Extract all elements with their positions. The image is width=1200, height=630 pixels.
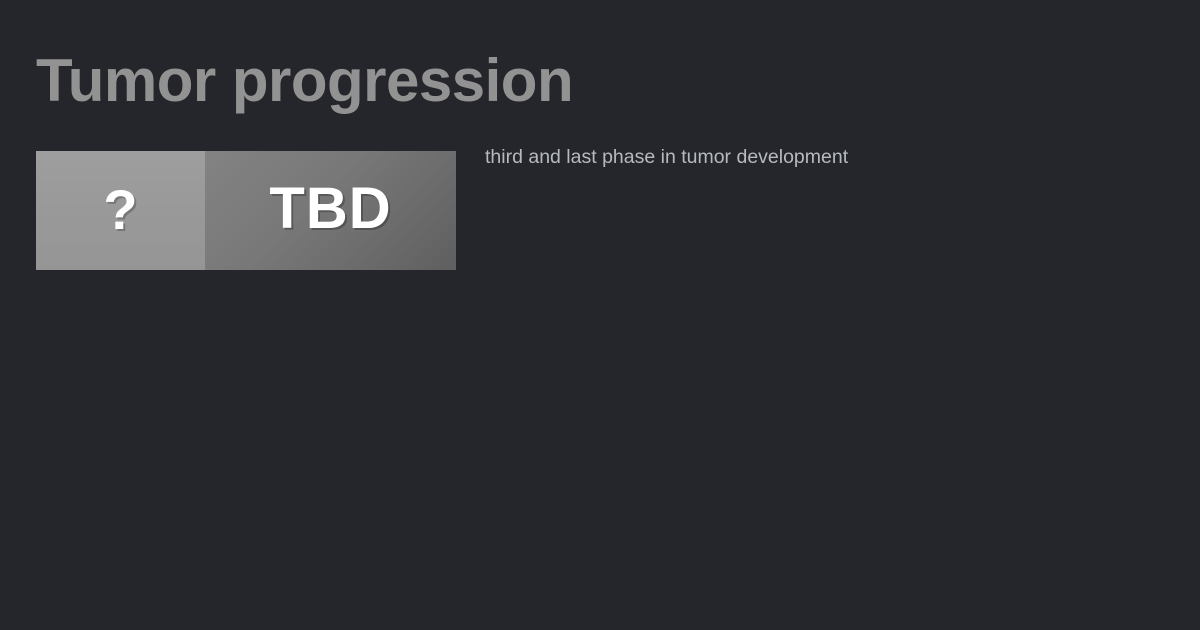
page-title: Tumor progression <box>36 48 573 114</box>
content-row: ? TBD third and last phase in tumor deve… <box>36 151 1176 311</box>
badge-left-panel: ? <box>36 151 205 270</box>
badge-right-panel: TBD <box>205 151 456 270</box>
page-description: third and last phase in tumor developmen… <box>485 142 905 172</box>
status-badge: ? TBD <box>36 151 456 270</box>
social-preview-card: Tumor progression ? TBD third and last p… <box>0 0 1200 630</box>
question-mark-icon: ? <box>103 182 137 238</box>
badge-value-label: TBD <box>269 180 391 238</box>
